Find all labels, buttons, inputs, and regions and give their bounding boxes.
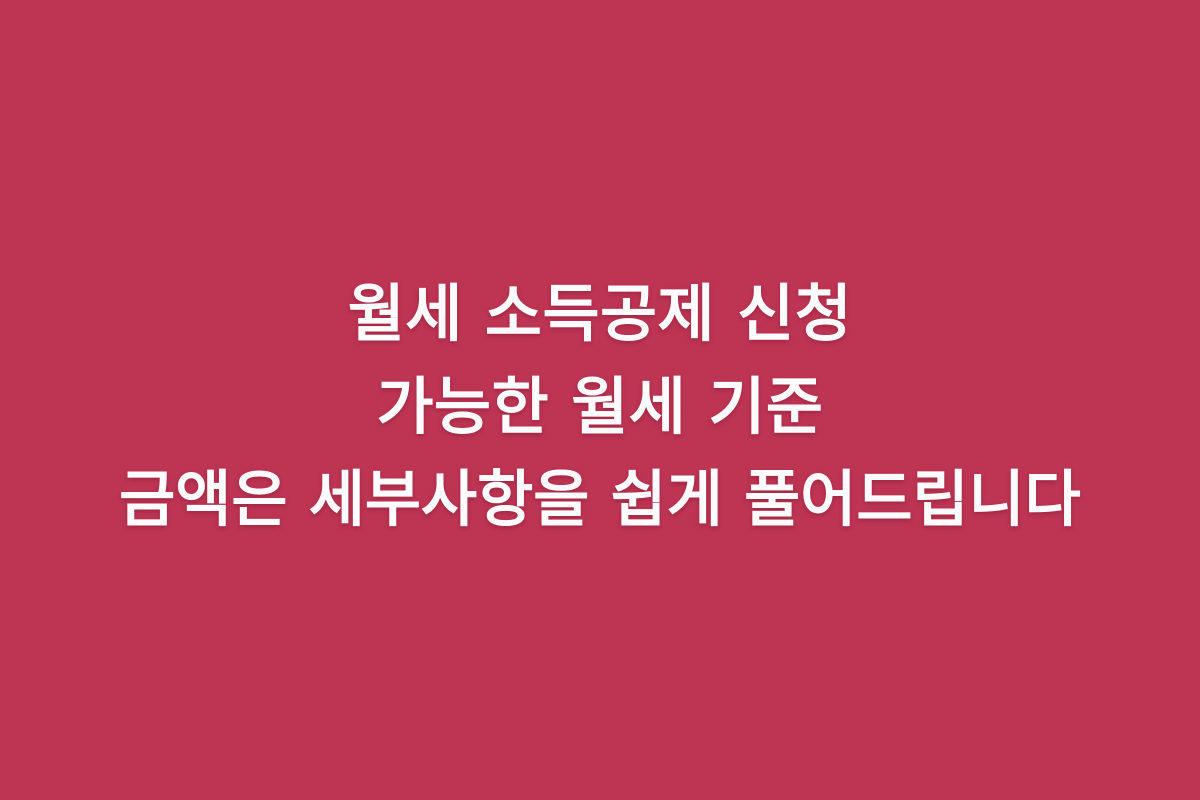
thumbnail-card: 월세 소득공제 신청 가능한 월세 기준 금액은 세부사항을 쉽게 풀어드립니다 <box>0 0 1200 800</box>
title-line-2: 가능한 월세 기준 <box>24 360 1176 453</box>
title-line-3: 금액은 세부사항을 쉽게 풀어드립니다 <box>24 453 1176 546</box>
title-line-1: 월세 소득공제 신청 <box>24 267 1176 360</box>
title-text-block: 월세 소득공제 신청 가능한 월세 기준 금액은 세부사항을 쉽게 풀어드립니다 <box>0 267 1200 546</box>
